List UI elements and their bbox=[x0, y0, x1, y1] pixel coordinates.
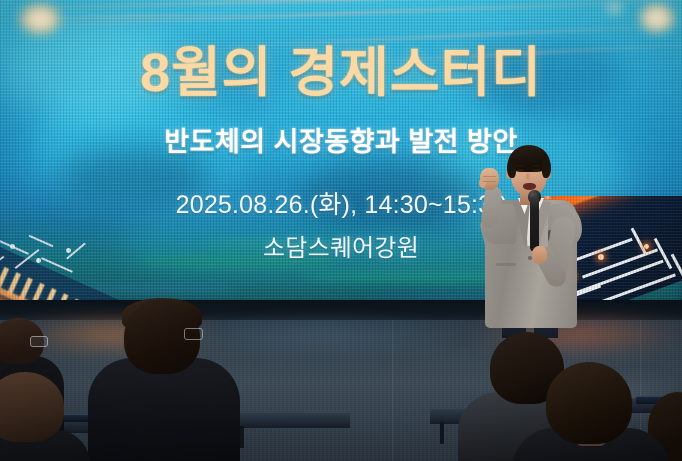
speaker-hair-side-right bbox=[542, 158, 551, 178]
audience-desk bbox=[230, 412, 350, 428]
speaker-eye-left bbox=[517, 169, 524, 172]
speaker-hair-side-left bbox=[507, 158, 516, 178]
floor-reflection bbox=[180, 322, 460, 348]
event-photo-scene: 8월의 경제스터디 반도체의 시장동향과 발전 방안 2025.08.26.(화… bbox=[0, 0, 682, 461]
speaker-eyebrow-right bbox=[532, 165, 541, 167]
speaker-lapel-left bbox=[513, 202, 530, 250]
glasses-icon bbox=[184, 328, 203, 340]
speaker-thumb bbox=[479, 178, 486, 188]
speaker-mouth bbox=[523, 183, 536, 190]
speaker-person bbox=[470, 138, 600, 328]
speaker-eye-right bbox=[533, 169, 540, 172]
event-title: 8월의 경제스터디 bbox=[0, 28, 682, 107]
speaker-nose bbox=[526, 173, 530, 180]
speaker-pocket-left bbox=[496, 263, 516, 266]
glasses-icon bbox=[30, 336, 48, 347]
desk-leg bbox=[440, 422, 444, 444]
speaker-hand-right bbox=[532, 246, 547, 264]
microphone-body bbox=[530, 196, 539, 252]
speaker-eyebrow-left bbox=[516, 165, 525, 167]
desk-leg bbox=[240, 426, 244, 448]
audience-member-head bbox=[546, 362, 632, 444]
